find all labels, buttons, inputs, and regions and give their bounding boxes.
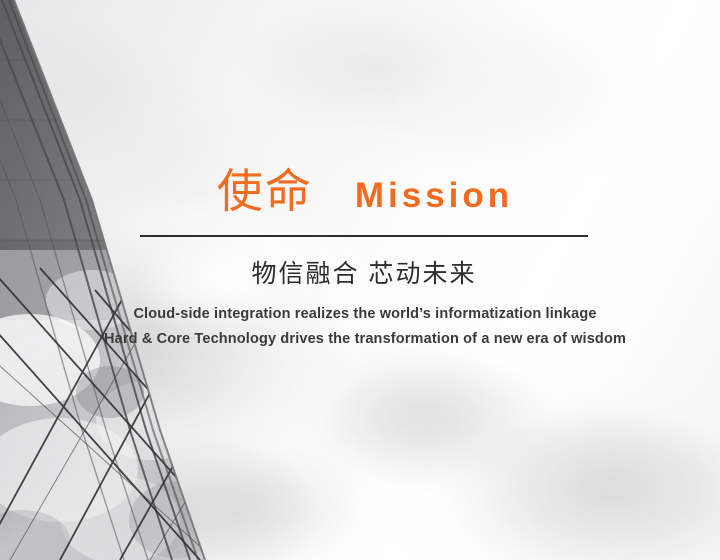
mission-body-line-2: Hard & Core Technology drives the transf… (60, 327, 670, 352)
mission-title-english: Mission (355, 178, 513, 213)
title-divider-rule (140, 235, 588, 237)
mission-subtitle: 物信融合 芯动未来 (140, 257, 588, 291)
mission-title-chinese: 使命 (217, 168, 313, 214)
mission-content: 使命 Mission 物信融合 芯动未来 Cloud-side integrat… (0, 0, 720, 560)
mission-body: Cloud-side integration realizes the worl… (60, 302, 670, 352)
mission-title-row: 使命 Mission (140, 168, 590, 230)
mission-body-line-1: Cloud-side integration realizes the worl… (60, 302, 670, 327)
mission-banner: 使命 Mission 物信融合 芯动未来 Cloud-side integrat… (0, 0, 720, 560)
